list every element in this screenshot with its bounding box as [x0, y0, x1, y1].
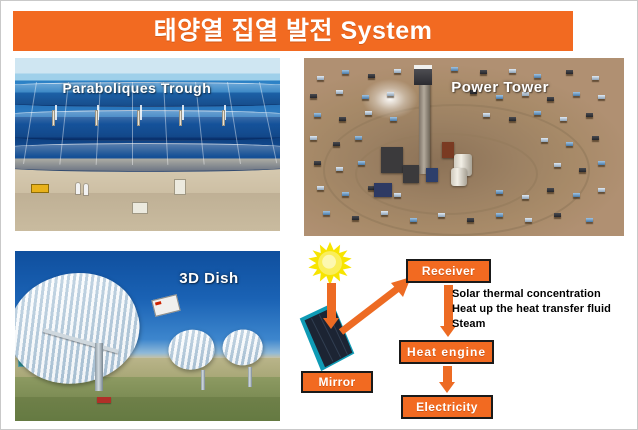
flow-box-electricity-label: Electricity — [416, 400, 478, 414]
title-banner: 태양열 집열 발전 System — [13, 11, 573, 51]
photo-label-parabolic-trough: Paraboliques Trough — [63, 80, 212, 96]
note-steam: Steam — [452, 318, 486, 330]
flow-box-receiver[interactable]: Receiver — [406, 259, 491, 283]
slide-canvas: 태양열 집열 발전 System Paraboliques Trough — [0, 0, 638, 430]
flow-box-mirror-label: Mirror — [318, 375, 355, 389]
flow-box-electricity[interactable]: Electricity — [401, 395, 493, 419]
page-title: 태양열 집열 발전 System — [154, 19, 433, 44]
flow-box-heat-engine[interactable]: Heat engine — [399, 340, 494, 364]
arrow-sun-to-mirror — [327, 283, 336, 319]
flow-box-heat-engine-label: Heat engine — [407, 345, 486, 359]
central-tower-shaft — [419, 74, 430, 174]
note-heat-transfer-fluid: Heat up the heat transfer fluid — [452, 303, 611, 315]
dish-collector-3 — [219, 325, 267, 370]
energy-flow-diagram: Receiver Solar thermal concentration Hea… — [291, 245, 638, 430]
photo-label-power-tower: Power Tower — [451, 79, 549, 96]
photo-3d-dish: 3D Dish — [15, 251, 280, 421]
central-receiver-icon — [414, 65, 432, 85]
photo-parabolic-trough: Paraboliques Trough — [15, 58, 280, 231]
note-solar-thermal-concentration: Solar thermal concentration — [452, 288, 601, 300]
flow-box-mirror[interactable]: Mirror — [301, 371, 373, 393]
photo-power-tower: Power Tower — [304, 58, 624, 236]
arrow-heat-engine-to-electricity — [443, 366, 452, 383]
arrow-mirror-to-receiver — [339, 275, 413, 335]
flow-box-receiver-label: Receiver — [422, 264, 475, 278]
dish-collector-2 — [164, 324, 219, 375]
photo-label-3d-dish: 3D Dish — [179, 270, 238, 287]
dish-collector-main — [15, 257, 152, 402]
